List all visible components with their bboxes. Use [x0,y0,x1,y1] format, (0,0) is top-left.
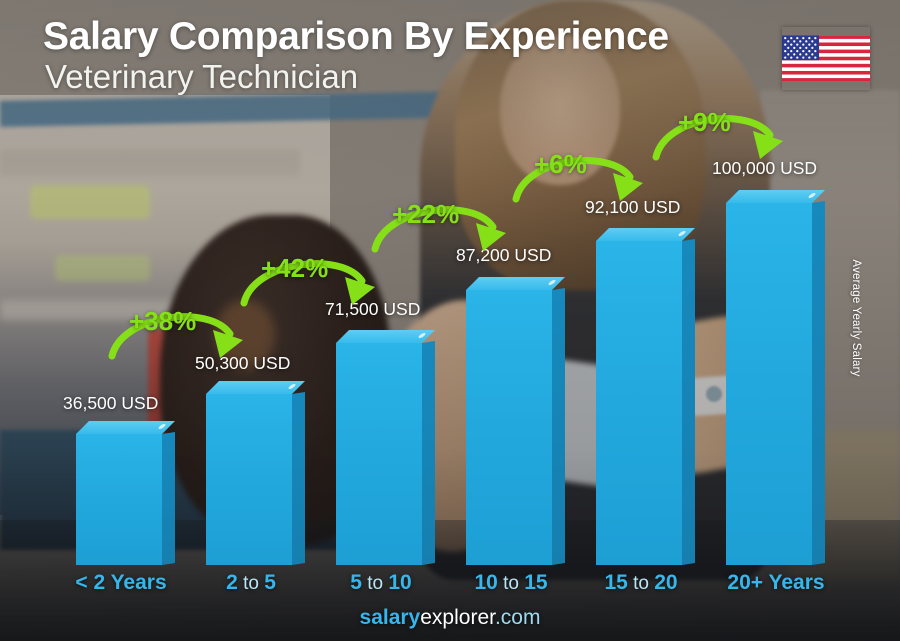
page-subtitle: Veterinary Technician [45,58,358,96]
pct-change-2: +22% [369,193,519,253]
bar-side-face [682,239,695,565]
bar-2[interactable] [336,343,422,565]
bar-value-label-0: 36,500 USD [63,393,158,414]
chart-canvas: Salary Comparison By Experience Veterina… [0,0,900,641]
x-axis-label-0[interactable]: < 2 Years [46,571,196,595]
x-axis-label-4-a: 15 [604,571,627,594]
bar-value-label-5: 100,000 USD [712,158,817,179]
bar-front-face [466,290,552,565]
x-axis-label-1[interactable]: 2 to 5 [176,571,326,595]
brand-part-domain: .com [495,606,541,629]
x-axis-label-4-b: 20 [654,571,677,594]
pct-change-label-1: +42% [261,253,328,284]
x-axis-label-3[interactable]: 10 to 15 [436,571,586,595]
x-axis-label-3-mid: to [498,573,524,594]
bar-side-face [552,288,565,565]
bar-top-face [76,421,175,434]
brand-part-explorer: explorer [420,606,495,629]
x-axis-label-2-a: 5 [350,571,362,594]
pct-change-0: +38% [106,300,256,360]
x-axis-label-3-b: 15 [524,571,547,594]
bar-front-face [206,394,292,565]
x-axis-label-5-a: 20+ Years [727,571,824,594]
bar-3[interactable] [466,290,552,565]
x-axis-label-1-b: 5 [264,571,276,594]
x-axis-label-4[interactable]: 15 to 20 [566,571,716,595]
pct-change-label-0: +38% [129,306,196,337]
bar-front-face [726,203,812,565]
pct-change-label-3: +6% [534,149,587,180]
x-axis-label-4-mid: to [628,573,654,594]
x-axis-label-2[interactable]: 5 to 10 [306,571,456,595]
bar-top-face [726,190,825,203]
bar-top-face [206,381,305,394]
pct-change-label-4: +9% [678,107,731,138]
bar-top-face [336,330,435,343]
x-axis-label-1-mid: to [238,573,264,594]
pct-change-4: +9% [650,103,795,161]
x-axis-label-1-a: 2 [226,571,238,594]
bar-1[interactable] [206,394,292,565]
site-brand[interactable]: salaryexplorer.com [0,606,900,630]
bar-front-face [76,434,162,565]
x-axis-label-0-a: < 2 Years [75,571,166,594]
x-axis-label-2-b: 10 [388,571,411,594]
brand-part-salary: salary [360,606,421,629]
bar-side-face [812,201,825,565]
x-axis-label-2-mid: to [362,573,388,594]
page-title: Salary Comparison By Experience [43,15,669,59]
bar-side-face [422,341,435,565]
bar-0[interactable] [76,434,162,565]
bar-side-face [162,432,175,565]
bar-side-face [292,392,305,565]
pct-change-1: +42% [238,247,388,307]
bar-front-face [596,241,682,565]
bar-top-face [596,228,695,241]
bar-5[interactable] [726,203,812,565]
pct-change-3: +6% [510,145,655,203]
bar-front-face [336,343,422,565]
y-axis-label: Average Yearly Salary [850,248,862,388]
bar-4[interactable] [596,241,682,565]
x-axis-label-5[interactable]: 20+ Years [696,571,856,595]
bar-top-face [466,277,565,290]
pct-change-label-2: +22% [392,199,459,230]
x-axis-label-3-a: 10 [474,571,497,594]
us-flag-icon [782,27,870,90]
